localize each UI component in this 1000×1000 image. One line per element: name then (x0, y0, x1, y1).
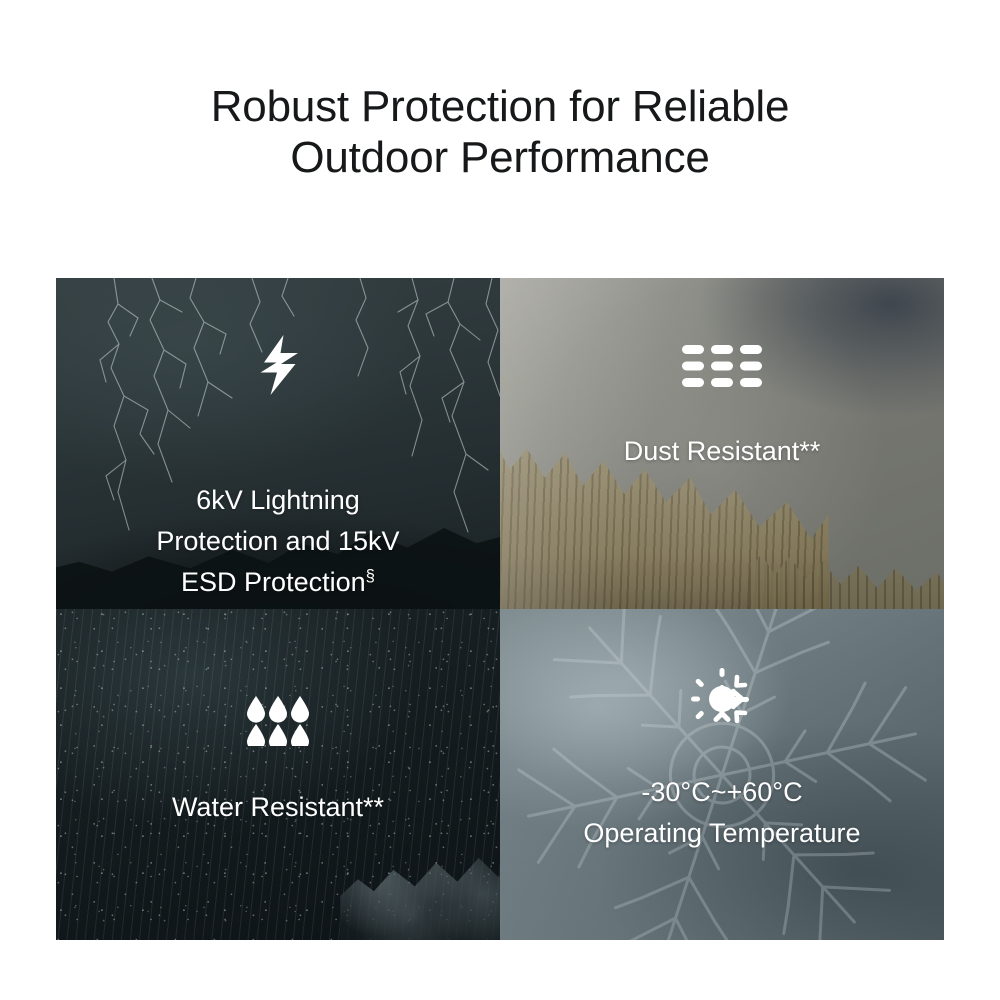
feature-label-lightning-text: 6kV Lightning Protection and 15kV ESD Pr… (156, 485, 399, 597)
feature-label-lightning: 6kV Lightning Protection and 15kV ESD Pr… (156, 439, 399, 603)
water-droplets-icon (247, 696, 309, 751)
feature-tile-dust-resistant[interactable]: Dust Resistant** (500, 278, 944, 609)
dust-grid-icon (682, 345, 762, 392)
feature-footnote-marker: § (366, 566, 375, 585)
feature-highlight-page: Robust Protection for Reliable Outdoor P… (0, 0, 1000, 1000)
feature-tile-operating-temperature[interactable]: -30°C~+60°C Operating Temperature (500, 609, 944, 940)
feature-label-water: Water Resistant** (172, 787, 384, 828)
feature-tile-water-resistant[interactable]: Water Resistant** (56, 609, 500, 940)
lightning-bolt-icon (254, 334, 302, 401)
feature-tile-lightning-protection[interactable]: 6kV Lightning Protection and 15kV ESD Pr… (56, 278, 500, 609)
sun-snowflake-icon (690, 667, 754, 736)
feature-label-temperature: -30°C~+60°C Operating Temperature (583, 772, 860, 854)
feature-grid: 6kV Lightning Protection and 15kV ESD Pr… (56, 278, 944, 940)
page-title: Robust Protection for Reliable Outdoor P… (0, 81, 1000, 183)
feature-label-dust: Dust Resistant** (624, 431, 821, 472)
